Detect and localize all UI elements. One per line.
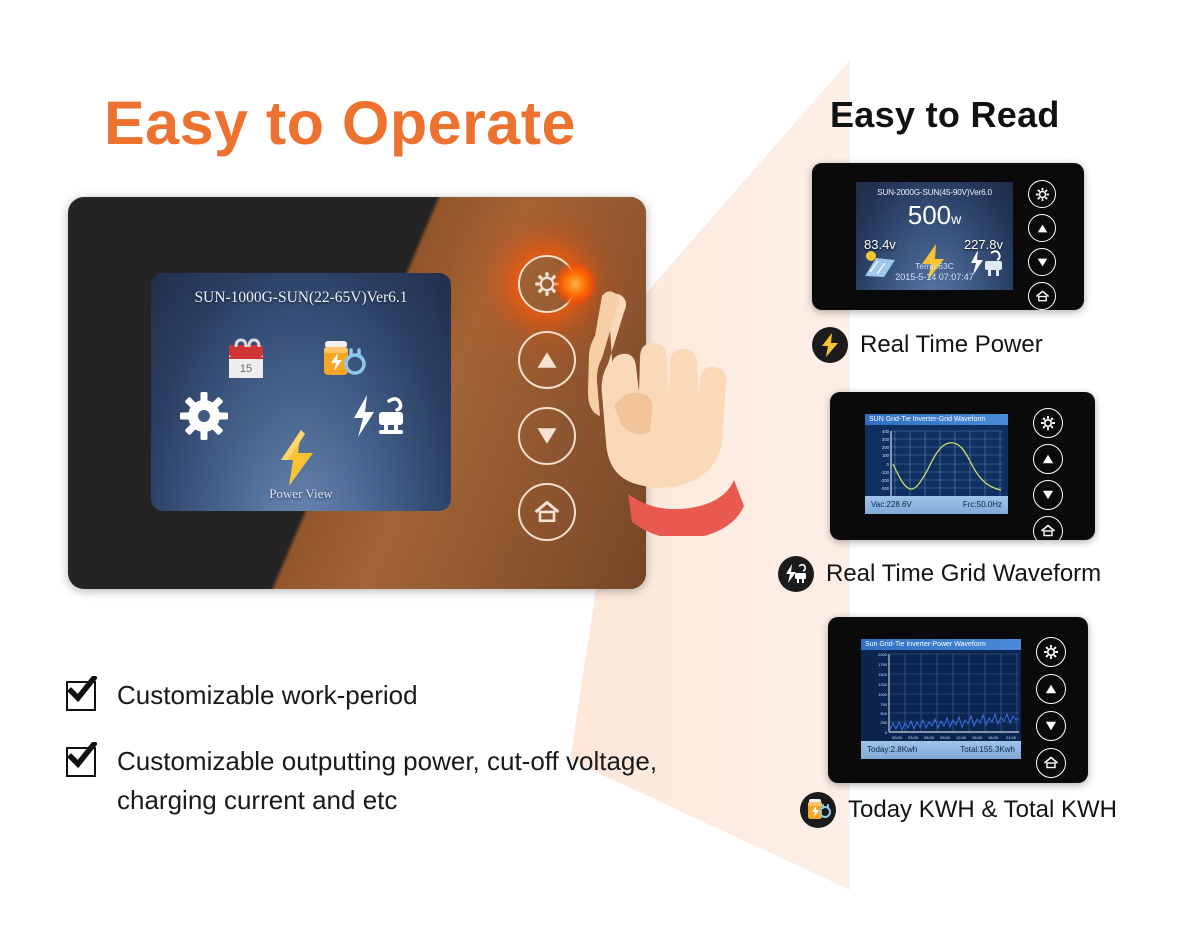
calendar-day-label: 15 [240,363,252,375]
settings-button[interactable] [1028,180,1056,208]
gear-icon [1043,644,1059,660]
pointing-hand [588,286,788,536]
svg-text:-100: -100 [881,470,890,475]
up-button[interactable] [518,331,576,389]
device3-screen[interactable]: Sun Grid-Tie Inverter-Power Waveform [861,639,1021,759]
svg-text:2000: 2000 [878,652,888,657]
svg-text:500: 500 [880,711,887,716]
grid-voltage-label: Vac:228.6V [871,500,912,509]
feature-text: Customizable work-period [117,676,418,716]
poster-root: Easy to Operate Easy to Read SUN-1000G-S… [0,0,1200,948]
list-item: Customizable outputting power, cut-off v… [66,742,706,821]
svg-text:15:00: 15:00 [972,735,983,740]
device2-chart-footer: Vac:228.6V Frc:50.0Hz [865,496,1008,514]
svg-text:1250: 1250 [878,682,888,687]
lightning-bolt-icon [812,327,848,363]
main-screen-footer: Power View [151,486,451,502]
home-icon [1040,523,1056,539]
device-kwh: Sun Grid-Tie Inverter-Power Waveform [828,617,1088,783]
home-icon [1043,755,1059,771]
svg-text:03:00: 03:00 [908,735,919,740]
home-button[interactable] [1036,748,1066,778]
grid-frequency-label: Frc:50.0Hz [963,500,1002,509]
device3-chart-title: Sun Grid-Tie Inverter-Power Waveform [861,639,1021,650]
home-button[interactable] [1028,282,1056,310]
caption-text: Real Time Grid Waveform [826,560,1101,588]
up-button[interactable] [1028,214,1056,242]
settings-button[interactable] [518,255,576,313]
checkbox-checked-icon [66,681,96,711]
home-icon [1035,289,1050,304]
svg-text:250: 250 [880,720,887,725]
settings-button[interactable] [1033,408,1063,438]
triangle-down-icon [1041,488,1055,502]
home-button[interactable] [518,483,576,541]
svg-text:750: 750 [880,702,887,707]
calendar-icon[interactable]: 15 [224,337,268,388]
page-title-right: Easy to Read [830,94,1060,136]
main-device-screen[interactable]: SUN-1000G-SUN(22-65V)Ver6.1 15 [151,273,451,511]
down-button[interactable] [518,407,576,465]
down-button[interactable] [1028,248,1056,276]
svg-text:18:00: 18:00 [988,735,999,740]
svg-text:-200: -200 [881,478,890,483]
gear-icon [1040,415,1056,431]
device1-temp: Temp:63C [856,261,1013,271]
battery-charge-icon [800,792,836,828]
triangle-up-icon [1041,452,1055,466]
triangle-up-icon [534,347,560,373]
page-title-left: Easy to Operate [104,88,576,158]
main-device: SUN-1000G-SUN(22-65V)Ver6.1 15 [68,197,646,589]
gear-icon [1035,187,1050,202]
home-button[interactable] [1033,516,1063,540]
svg-text:00:00: 00:00 [892,735,903,740]
device1-screen-title: SUN-2000G-SUN(45-90V)Ver6.0 [856,188,1013,197]
triangle-up-icon [1036,222,1049,235]
bolt-plug-icon[interactable] [351,393,407,444]
triangle-down-icon [534,423,560,449]
device1-datetime: 2015-5-14 07:07:47 [856,272,1013,282]
svg-text:300: 300 [882,437,890,442]
svg-text:1750: 1750 [878,662,888,667]
settings-button[interactable] [1036,637,1066,667]
today-kwh-label: Today:2.8Kwh [867,745,917,754]
device-grid-waveform: SUN Grid-Tie Inverter-Grid Waveform [830,392,1095,540]
feature-text: Customizable outputting power, cut-off v… [117,742,677,821]
main-screen-title: SUN-1000G-SUN(22-65V)Ver6.1 [151,289,451,307]
gear-icon[interactable] [179,391,229,446]
device1-power-value: 500w [856,202,1013,228]
total-kwh-label: Total:155.3Kwh [960,745,1015,754]
svg-text:100: 100 [882,453,890,458]
svg-text:1000: 1000 [878,692,888,697]
caption-kwh: Today KWH & Total KWH [800,792,1117,828]
svg-text:200: 200 [882,445,890,450]
triangle-up-icon [1044,682,1058,696]
bolt-plug-icon [778,556,814,592]
device3-button-column [1036,637,1066,778]
list-item: Customizable work-period [66,676,706,716]
caption-grid-waveform: Real Time Grid Waveform [778,556,1101,592]
svg-text:21:00: 21:00 [1006,735,1017,740]
up-button[interactable] [1036,674,1066,704]
device3-chart-footer: Today:2.8Kwh Total:155.3Kwh [861,741,1021,759]
svg-text:09:00: 09:00 [940,735,951,740]
caption-text: Real Time Power [860,331,1043,359]
down-button[interactable] [1036,711,1066,741]
svg-text:400: 400 [882,429,890,434]
svg-text:12:00: 12:00 [956,735,967,740]
triangle-down-icon [1044,719,1058,733]
triangle-down-icon [1036,256,1049,269]
device1-screen[interactable]: SUN-2000G-SUN(45-90V)Ver6.0 500w 83.4v 2… [856,182,1013,290]
device2-screen[interactable]: SUN Grid-Tie Inverter-Grid Waveform [865,414,1008,514]
checkbox-checked-icon [66,747,96,777]
svg-text:1500: 1500 [878,672,888,677]
device-real-time-power: SUN-2000G-SUN(45-90V)Ver6.0 500w 83.4v 2… [812,163,1084,310]
up-button[interactable] [1033,444,1063,474]
device2-button-column [1033,408,1063,540]
lightning-bolt-icon[interactable] [275,428,319,493]
device2-chart-title: SUN Grid-Tie Inverter-Grid Waveform [865,414,1008,425]
home-icon [533,498,561,526]
svg-text:06:00: 06:00 [924,735,935,740]
caption-real-time-power: Real Time Power [812,327,1043,363]
battery-charge-icon[interactable] [317,337,367,390]
caption-text: Today KWH & Total KWH [848,796,1117,824]
svg-text:-300: -300 [881,486,890,491]
down-button[interactable] [1033,480,1063,510]
feature-list: Customizable work-period Customizable ou… [66,676,706,847]
device1-button-column [1028,180,1056,310]
